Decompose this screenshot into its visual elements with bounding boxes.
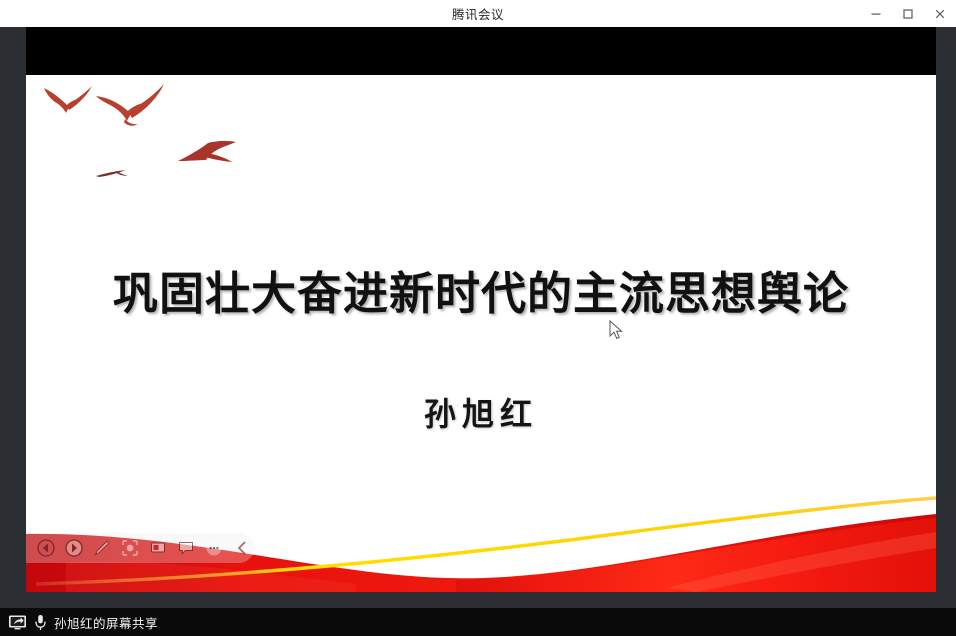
collapse-icon bbox=[233, 539, 251, 557]
pen-icon bbox=[93, 539, 111, 557]
bird-icon bbox=[44, 86, 92, 113]
collapse-toolbar-button[interactable] bbox=[230, 536, 254, 560]
previous-slide-icon bbox=[37, 539, 55, 557]
screen-share-icon bbox=[8, 614, 27, 631]
next-slide-button[interactable] bbox=[62, 536, 86, 560]
shared-screen-frame: 巩固壮大奋进新时代的主流思想舆论 孙旭红 bbox=[0, 27, 956, 608]
bird-icon bbox=[96, 170, 128, 177]
maximize-button[interactable] bbox=[892, 0, 924, 27]
presentation-slide[interactable]: 巩固壮大奋进新时代的主流思想舆论 孙旭红 bbox=[26, 75, 936, 592]
share-status-text: 孙旭红的屏幕共享 bbox=[54, 613, 158, 632]
mouse-cursor bbox=[609, 320, 625, 342]
maximize-icon bbox=[902, 8, 914, 20]
slide-author: 孙旭红 bbox=[26, 389, 936, 435]
laser-pointer-button[interactable] bbox=[118, 536, 142, 560]
bird-icon bbox=[96, 84, 164, 126]
more-options-button[interactable] bbox=[202, 536, 226, 560]
laser-pointer-icon bbox=[121, 539, 139, 557]
microphone-icon bbox=[34, 614, 47, 631]
minimize-icon bbox=[870, 8, 882, 20]
window-title: 腾讯会议 bbox=[452, 4, 504, 23]
close-button[interactable] bbox=[924, 0, 956, 27]
minimize-button[interactable] bbox=[860, 0, 892, 27]
tencent-meeting-window: 腾讯会议 bbox=[0, 0, 956, 636]
close-icon bbox=[934, 8, 946, 20]
previous-slide-button[interactable] bbox=[34, 536, 58, 560]
notes-button[interactable] bbox=[174, 536, 198, 560]
ppt-floating-toolbar[interactable] bbox=[26, 533, 254, 563]
next-slide-icon bbox=[65, 539, 83, 557]
flying-birds-decoration bbox=[36, 80, 266, 195]
slide-browser-button[interactable] bbox=[146, 536, 170, 560]
notes-icon bbox=[177, 539, 195, 557]
bird-icon bbox=[178, 141, 236, 162]
screen-share-letterbox: 巩固壮大奋进新时代的主流思想舆论 孙旭红 bbox=[26, 27, 936, 592]
window-title-bar: 腾讯会议 bbox=[0, 0, 956, 27]
slide-browser-icon bbox=[149, 539, 167, 557]
share-status-bar: 孙旭红的屏幕共享 bbox=[0, 608, 956, 636]
slide-title: 巩固壮大奋进新时代的主流思想舆论 bbox=[26, 257, 936, 322]
window-controls bbox=[860, 0, 956, 27]
pen-tool-button[interactable] bbox=[90, 536, 114, 560]
more-options-icon bbox=[205, 539, 223, 557]
arrow-pointer-icon bbox=[609, 320, 625, 342]
